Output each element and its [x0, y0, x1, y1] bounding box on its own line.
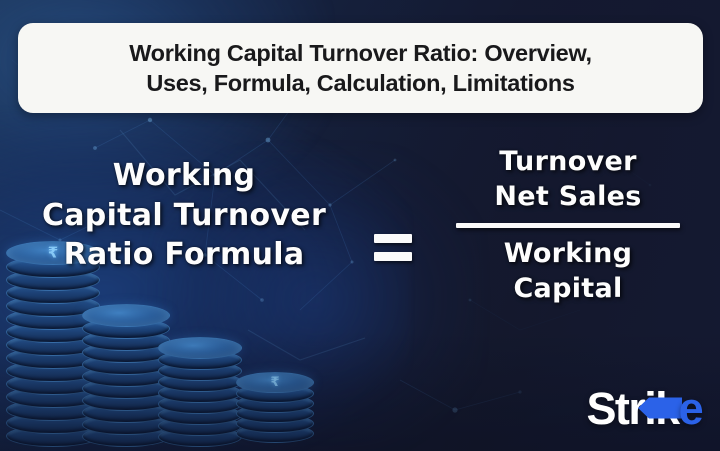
equals-sign — [374, 234, 412, 262]
formula-lhs-line-3: Ratio Formula — [64, 237, 305, 272]
arrow-left-icon — [638, 398, 682, 419]
equals-bar-top — [374, 234, 412, 243]
numerator-line-1: Turnover — [499, 146, 636, 177]
fraction-bar — [456, 223, 680, 228]
formula-left-label: Working Capital Turnover Ratio Formula — [8, 156, 360, 275]
formula-lhs-line-1: Working — [113, 158, 256, 193]
denominator-line-1: Working — [504, 238, 633, 269]
formula-lhs-line-2: Capital Turnover — [42, 198, 326, 233]
title-card: Working Capital Turnover Ratio: Overview… — [18, 23, 703, 113]
numerator-line-2: Net Sales — [494, 181, 641, 212]
page-title: Working Capital Turnover Ratio: Overview… — [115, 38, 606, 98]
formula-block: Working Capital Turnover Ratio Formula T… — [0, 140, 720, 370]
equals-bar-bottom — [374, 252, 412, 261]
logo-text-accent: e — [679, 383, 702, 434]
title-line-1: Working Capital Turnover Ratio: Overview… — [129, 40, 592, 66]
formula-fraction: Turnover Net Sales Working Capital — [440, 144, 696, 306]
denominator-line-2: Capital — [513, 273, 622, 304]
fraction-denominator: Working Capital — [440, 236, 696, 306]
title-line-2: Uses, Formula, Calculation, Limitations — [146, 70, 574, 96]
strike-logo[interactable]: Strike — [587, 382, 702, 434]
fraction-numerator: Turnover Net Sales — [440, 144, 696, 214]
logo-wordmark: Strike — [587, 386, 702, 431]
infographic-banner: ₹ — [0, 0, 720, 451]
